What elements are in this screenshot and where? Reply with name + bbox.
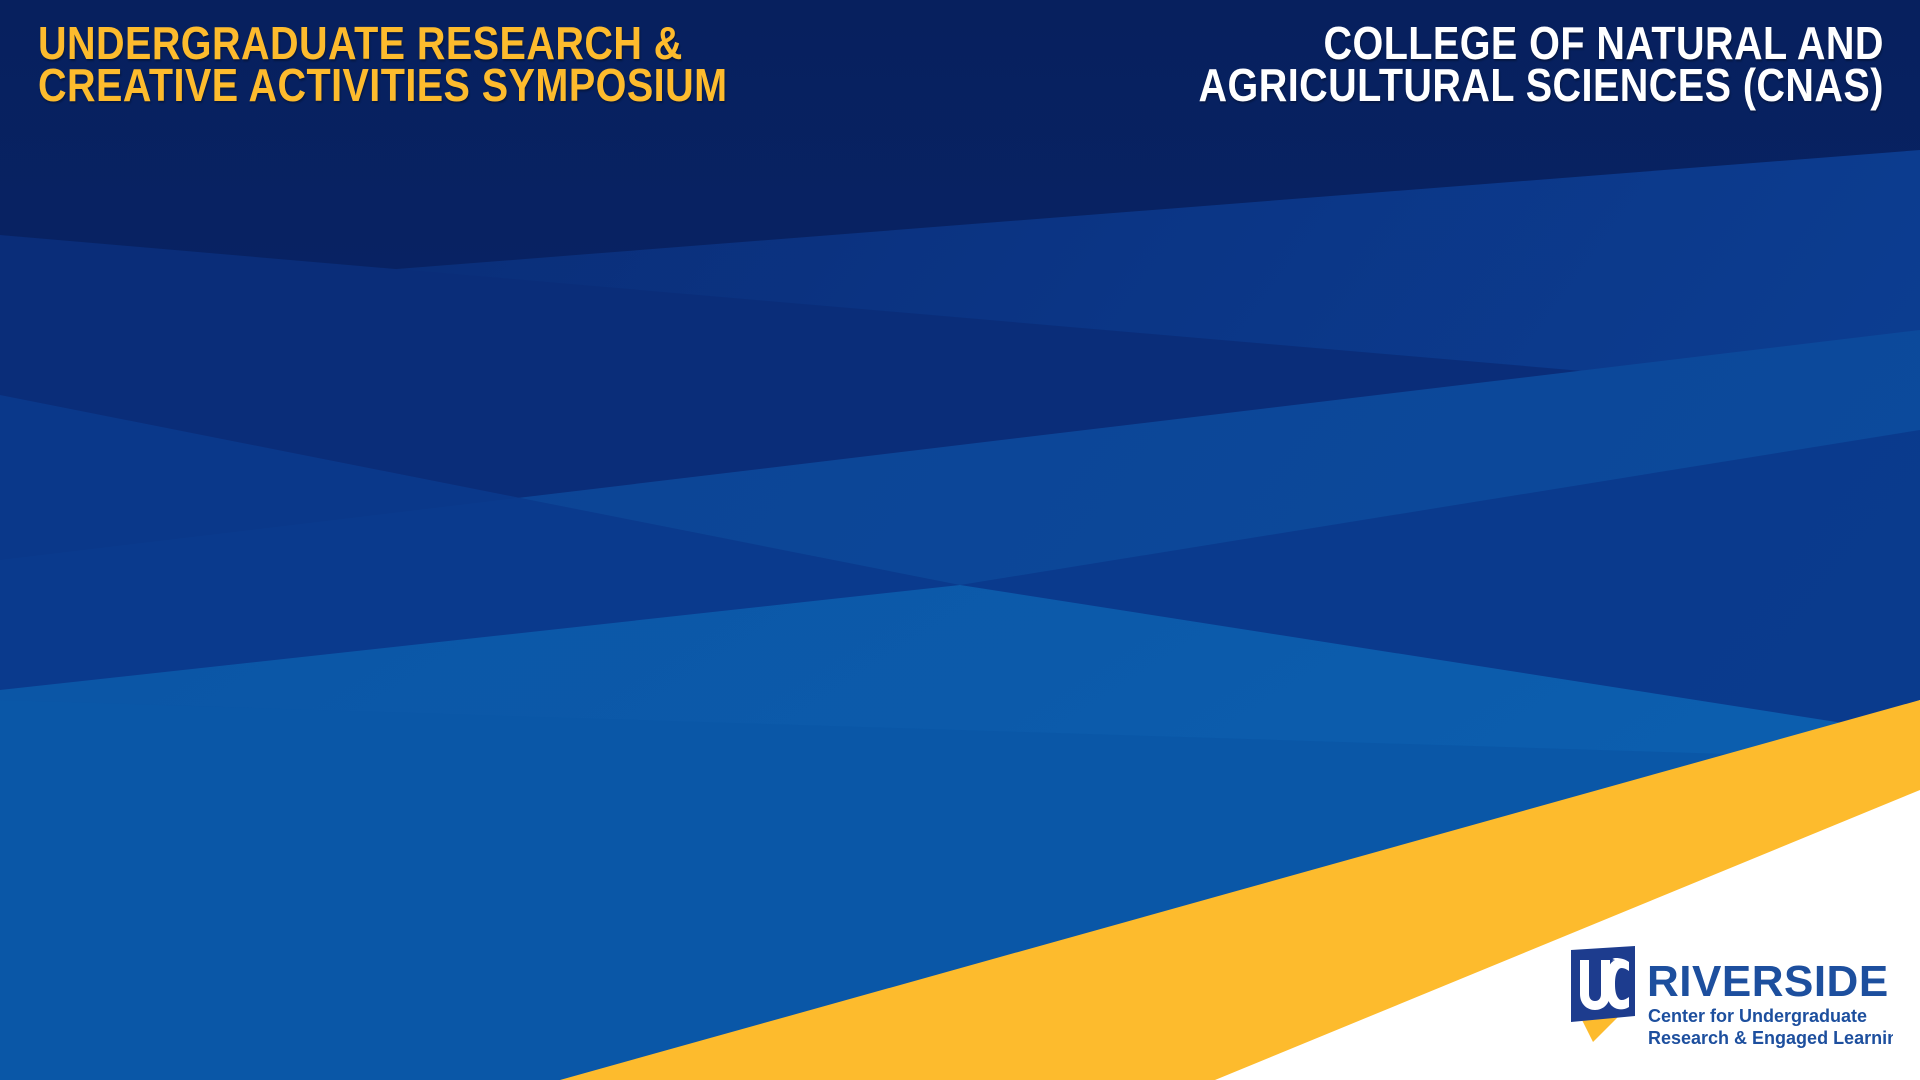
uc-riverside-wordmark: RIVERSIDE: [1647, 957, 1889, 1006]
curel-tagline-line-1: Center for Undergraduate: [1648, 1006, 1867, 1026]
cnas-title-line-2: AGRICULTURAL SCIENCES (CNAS): [1199, 64, 1884, 106]
background-geometry: [0, 0, 1920, 1080]
undergraduate-research-symposium-title: UNDERGRADUATE RESEARCH & CREATIVE ACTIVI…: [38, 22, 840, 107]
cnas-title-line-1: COLLEGE OF NATURAL AND: [1199, 22, 1884, 64]
college-of-natural-and-agricultural-sciences-title: COLLEGE OF NATURAL AND AGRICULTURAL SCIE…: [1087, 22, 1884, 107]
symposium-banner-slide: UNDERGRADUATE RESEARCH & CREATIVE ACTIVI…: [0, 0, 1920, 1080]
symposium-title-line-2: CREATIVE ACTIVITIES SYMPOSIUM: [38, 64, 727, 106]
curel-tagline-line-2: Research & Engaged Learning: [1648, 1028, 1893, 1048]
symposium-title-line-1: UNDERGRADUATE RESEARCH &: [38, 22, 727, 64]
uc-riverside-curel-logo: RIVERSIDE Center for Undergraduate Resea…: [1563, 942, 1893, 1060]
